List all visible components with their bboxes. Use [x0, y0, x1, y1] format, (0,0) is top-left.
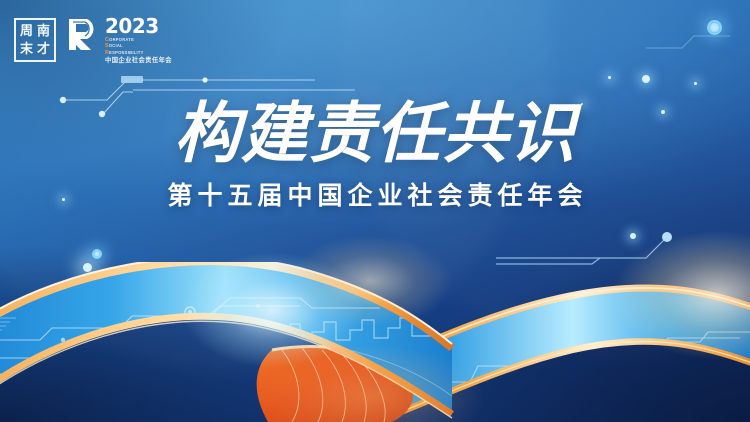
- page-subtitle: 第十五届中国企业社会责任年会: [0, 179, 750, 213]
- csr-logo: 2023 CORPORATE SOCIAL RESPONSIBILITY 中国企…: [67, 16, 172, 64]
- seal-char-3: 末: [18, 40, 35, 58]
- ribbon-graphic: [0, 262, 750, 422]
- southern-weekly-seal-logo: 周 南 末 才: [14, 18, 56, 62]
- seal-char-4: 才: [35, 40, 52, 58]
- seal-char-1: 周: [18, 22, 35, 40]
- logo-bar: 周 南 末 才 2023 CORPORATE SOCIAL RESPONSIBI…: [14, 16, 172, 64]
- csr-chinese-name: 中国企业社会责任年会: [105, 58, 172, 64]
- glow-dot-8: [630, 233, 636, 239]
- poster-canvas: 周 南 末 才 2023 CORPORATE SOCIAL RESPONSIBI…: [0, 0, 750, 422]
- page-title: 构建责任共识: [0, 96, 750, 172]
- csr-r-mark-icon: [67, 17, 101, 51]
- csr-text-block: 2023 CORPORATE SOCIAL RESPONSIBILITY 中国企…: [105, 16, 172, 64]
- glow-dot-1: [642, 75, 650, 83]
- csr-line-responsibility: RESPONSIBILITY: [105, 50, 172, 56]
- glow-ring-small: [92, 249, 102, 259]
- glow-dot-2: [608, 76, 611, 79]
- title-block: 构建责任共识 第十五届中国企业社会责任年会: [0, 96, 750, 213]
- glow-ring-large: [707, 20, 722, 35]
- glow-dot-3: [694, 82, 697, 85]
- seal-char-2: 南: [35, 22, 52, 40]
- csr-year: 2023: [105, 16, 172, 36]
